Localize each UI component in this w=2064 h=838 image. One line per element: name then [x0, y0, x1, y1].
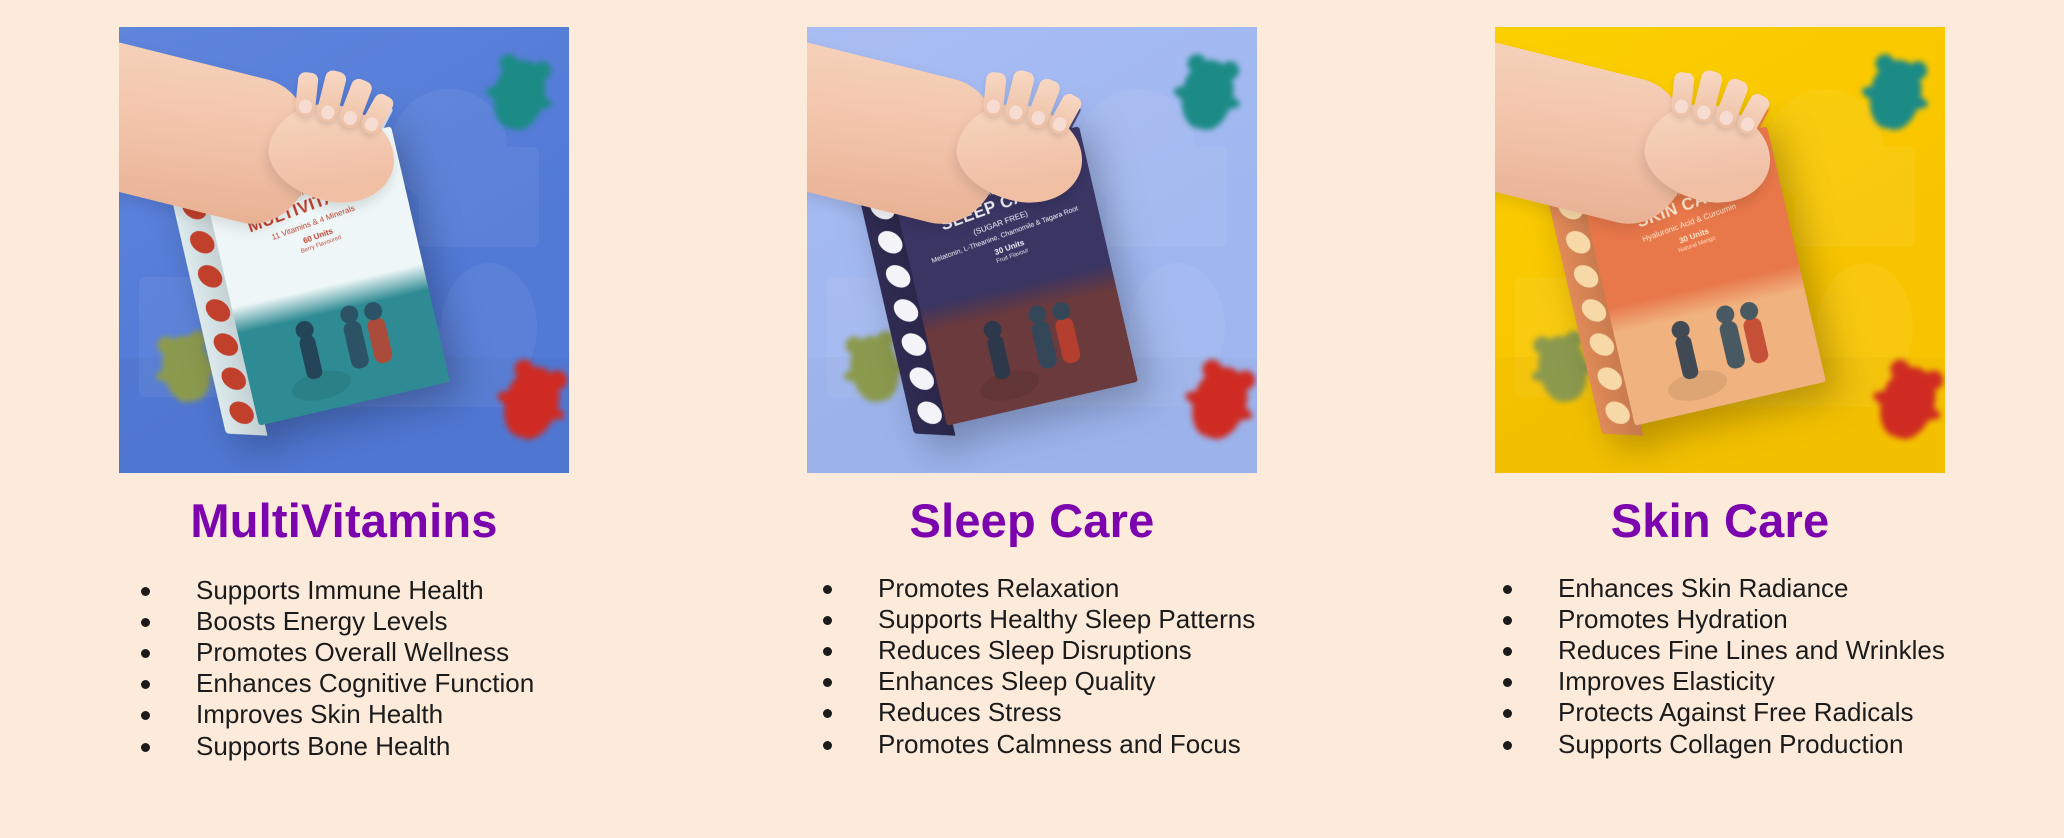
benefit-item: Supports Collagen Production: [1503, 730, 1945, 759]
product-title-skin-care: Skin Care: [1611, 497, 1830, 544]
benefit-label: Promotes Calmness and Focus: [878, 730, 1241, 759]
fingernail: [1695, 104, 1711, 121]
benefit-label: Supports Immune Health: [196, 576, 484, 605]
fingernail: [1674, 99, 1688, 114]
benefit-label: Supports Healthy Sleep Patterns: [878, 605, 1255, 634]
bullet-icon: [1503, 741, 1512, 750]
benefit-item: Supports Immune Health: [141, 576, 569, 605]
benefit-item: Boosts Energy Levels: [141, 607, 569, 636]
fingernail: [1029, 109, 1046, 127]
bullet-icon: [1503, 585, 1512, 594]
box-feature-icon: [899, 333, 928, 357]
benefit-item: Enhances Cognitive Function: [141, 669, 569, 698]
bullet-icon: [141, 743, 150, 752]
benefit-label: Supports Bone Health: [196, 732, 450, 761]
box-feature-icon: [891, 299, 920, 323]
bullet-icon: [823, 585, 832, 594]
bullet-icon: [1503, 709, 1512, 718]
benefit-item: Enhances Sleep Quality: [823, 667, 1257, 696]
benefit-item: Promotes Relaxation: [823, 574, 1257, 603]
fingernail: [1739, 115, 1757, 134]
benefit-label: Enhances Sleep Quality: [878, 667, 1156, 696]
box-feature-icon: [203, 299, 232, 323]
multivitamins-product-photo[interactable]: GUMMIESMULTIVITAMIN11 Vitamins & 4 Miner…: [119, 27, 569, 473]
benefit-item: Enhances Skin Radiance: [1503, 574, 1945, 603]
benefit-item: Improves Skin Health: [141, 700, 569, 729]
benefit-label: Promotes Hydration: [1558, 605, 1788, 634]
box-feature-icon: [1579, 299, 1608, 323]
benefits-list-skin-care: Enhances Skin RadiancePromotes Hydration…: [1495, 574, 1945, 761]
benefits-list-sleep-care: Promotes RelaxationSupports Healthy Slee…: [807, 574, 1257, 761]
benefit-label: Reduces Fine Lines and Wrinkles: [1558, 636, 1945, 665]
fingernail: [986, 99, 1000, 114]
fingernail: [341, 109, 358, 127]
fingernail: [1717, 109, 1734, 127]
hand-finger: [982, 72, 1006, 118]
bullet-icon: [141, 649, 150, 658]
bullet-icon: [141, 618, 150, 627]
benefit-label: Improves Elasticity: [1558, 667, 1775, 696]
fingernail: [298, 99, 312, 114]
bullet-icon: [141, 587, 150, 596]
bullet-icon: [1503, 616, 1512, 625]
benefit-item: Reduces Sleep Disruptions: [823, 636, 1257, 665]
bullet-icon: [1503, 678, 1512, 687]
fingernail: [1051, 115, 1069, 134]
sleep-care-product-photo[interactable]: GUMMIESSLEEP CARE(SUGAR FREE)Melatonin, …: [807, 27, 1257, 473]
bullet-icon: [141, 680, 150, 689]
box-feature-icon: [188, 230, 217, 254]
bullet-icon: [1503, 647, 1512, 656]
benefit-item: Promotes Hydration: [1503, 605, 1945, 634]
box-feature-icon: [211, 333, 240, 357]
product-title-multivitamins: MultiVitamins: [190, 497, 497, 544]
benefit-item: Supports Bone Health: [141, 732, 569, 761]
bullet-icon: [823, 616, 832, 625]
benefit-label: Protects Against Free Radicals: [1558, 698, 1914, 727]
box-feature-icon: [1572, 265, 1601, 289]
benefit-label: Enhances Cognitive Function: [196, 669, 534, 698]
benefit-item: Promotes Overall Wellness: [141, 638, 569, 667]
box-feature-icon: [219, 367, 248, 391]
benefit-label: Promotes Overall Wellness: [196, 638, 509, 667]
bullet-icon: [141, 711, 150, 720]
benefit-label: Promotes Relaxation: [878, 574, 1119, 603]
product-columns: GUMMIESMULTIVITAMIN11 Vitamins & 4 Miner…: [0, 0, 2064, 763]
benefit-item: Promotes Calmness and Focus: [823, 730, 1257, 759]
product-card-multivitamins: GUMMIESMULTIVITAMIN11 Vitamins & 4 Miner…: [0, 27, 688, 763]
product-showcase-board: GUMMIESMULTIVITAMIN11 Vitamins & 4 Miner…: [0, 0, 2064, 838]
box-feature-icon: [1587, 333, 1616, 357]
box-feature-icon: [1603, 401, 1632, 425]
benefits-list-multivitamins: Supports Immune HealthBoosts Energy Leve…: [119, 576, 569, 763]
fingernail: [1007, 104, 1023, 121]
benefit-label: Improves Skin Health: [196, 700, 443, 729]
box-feature-icon: [1595, 367, 1624, 391]
benefit-label: Supports Collagen Production: [1558, 730, 1903, 759]
product-title-sleep-care: Sleep Care: [910, 497, 1155, 544]
benefit-label: Enhances Skin Radiance: [1558, 574, 1849, 603]
benefit-label: Boosts Energy Levels: [196, 607, 447, 636]
fingernail: [363, 115, 381, 134]
bullet-icon: [823, 709, 832, 718]
benefit-item: Reduces Stress: [823, 698, 1257, 727]
skin-care-product-photo[interactable]: GUMMIESSKIN CAREHyaluronic Acid & Curcum…: [1495, 27, 1945, 473]
box-feature-icon: [196, 265, 225, 289]
box-feature-icon: [876, 230, 905, 254]
bullet-icon: [823, 678, 832, 687]
benefit-item: Reduces Fine Lines and Wrinkles: [1503, 636, 1945, 665]
box-feature-icon: [907, 367, 936, 391]
box-feature-icon: [884, 265, 913, 289]
product-card-skin-care: GUMMIESSKIN CAREHyaluronic Acid & Curcum…: [1376, 27, 2064, 761]
hand-finger: [1670, 72, 1694, 118]
box-feature-icon: [915, 401, 944, 425]
benefit-item: Protects Against Free Radicals: [1503, 698, 1945, 727]
benefit-item: Improves Elasticity: [1503, 667, 1945, 696]
box-feature-icon: [1564, 230, 1593, 254]
fingernail: [319, 104, 335, 121]
benefit-item: Supports Healthy Sleep Patterns: [823, 605, 1257, 634]
bullet-icon: [823, 741, 832, 750]
product-card-sleep-care: GUMMIESSLEEP CARE(SUGAR FREE)Melatonin, …: [688, 27, 1376, 761]
benefit-label: Reduces Stress: [878, 698, 1062, 727]
box-feature-icon: [227, 401, 256, 425]
hand-finger: [294, 72, 318, 118]
bullet-icon: [823, 647, 832, 656]
benefit-label: Reduces Sleep Disruptions: [878, 636, 1192, 665]
